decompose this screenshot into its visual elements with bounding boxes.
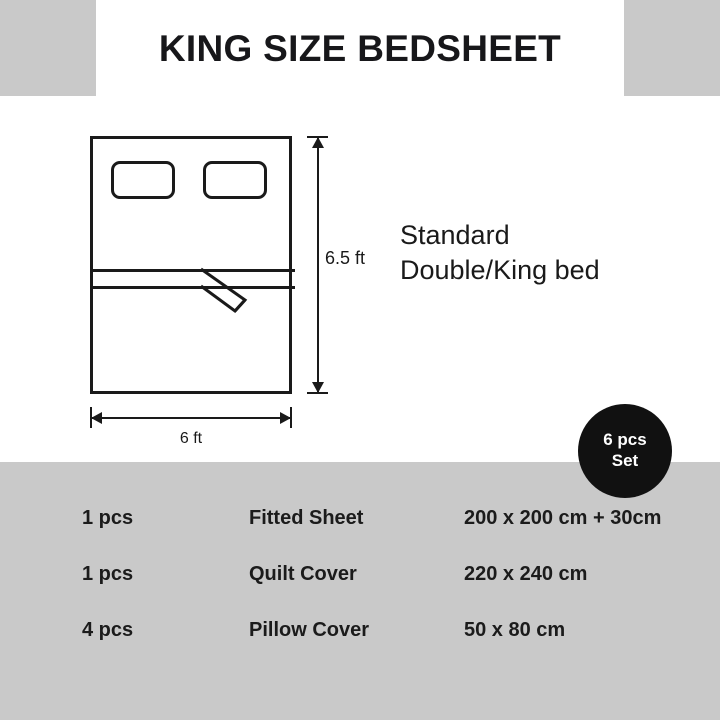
bed-type-caption: Standard Double/King bed (400, 218, 680, 287)
badge-line-2: Set (612, 451, 638, 472)
bed-caption-line-2: Double/King bed (400, 253, 680, 288)
set-count-badge: 6 pcs Set (578, 404, 672, 498)
row-size: 50 x 80 cm (464, 619, 714, 642)
table-row: 1 pcs Fitted Sheet 200 x 200 cm + 30cm (0, 490, 720, 546)
row-item-name: Pillow Cover (249, 619, 449, 642)
row-quantity: 4 pcs (82, 619, 202, 642)
bed-outline (90, 136, 292, 394)
page-title: KING SIZE BEDSHEET (159, 30, 561, 67)
row-item-name: Fitted Sheet (249, 507, 449, 530)
row-size: 200 x 200 cm + 30cm (464, 507, 714, 530)
poster-root: KING SIZE BEDSHEET 6.5 ft (0, 0, 720, 720)
bed-caption-line-1: Standard (400, 220, 510, 250)
row-quantity: 1 pcs (82, 563, 202, 586)
row-quantity: 1 pcs (82, 507, 202, 530)
header-title-container: KING SIZE BEDSHEET (96, 0, 624, 96)
specs-table: 1 pcs Fitted Sheet 200 x 200 cm + 30cm 1… (0, 490, 720, 658)
row-size: 220 x 240 cm (464, 563, 714, 586)
row-item-name: Quilt Cover (249, 563, 449, 586)
width-dimension-label: 6 ft (90, 430, 292, 448)
table-row: 4 pcs Pillow Cover 50 x 80 cm (0, 602, 720, 658)
height-dimension-label: 6.5 ft (325, 248, 365, 269)
table-row: 1 pcs Quilt Cover 220 x 240 cm (0, 546, 720, 602)
blanket-fold-icon (93, 139, 295, 397)
badge-line-1: 6 pcs (603, 430, 646, 451)
width-dimension-arrow (90, 406, 292, 430)
